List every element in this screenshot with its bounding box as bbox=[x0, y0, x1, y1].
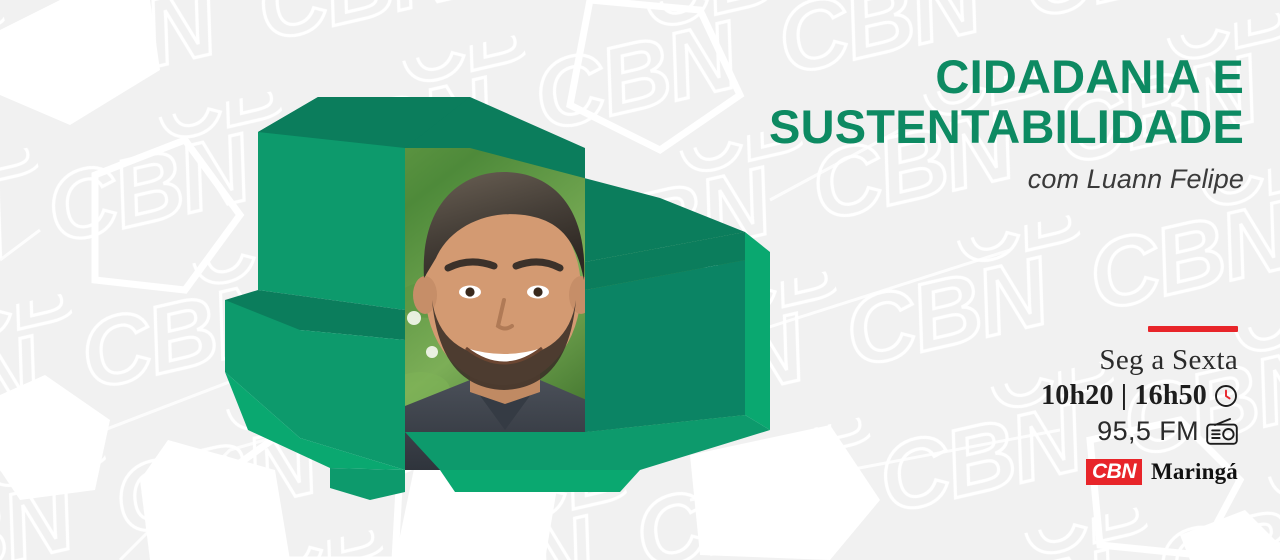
frequency-label: 95,5 FM bbox=[1097, 416, 1199, 447]
solid-polygon-lower-left bbox=[140, 440, 290, 560]
host-credit: com Luann Felipe bbox=[524, 164, 1244, 195]
clock-icon bbox=[1214, 384, 1238, 408]
frequency-row: 95,5 FM bbox=[1008, 416, 1238, 447]
red-divider bbox=[1148, 326, 1238, 332]
program-title-block: CIDADANIA E SUSTENTABILIDADE com Luann F… bbox=[524, 52, 1244, 195]
outline-polygon-left bbox=[95, 140, 240, 290]
schedule-info-block: Seg a Sexta 10h20 | 16h50 95,5 FM bbox=[1008, 326, 1238, 485]
program-title-line-1: CIDADANIA E bbox=[524, 52, 1244, 102]
station-city-label: Maringá bbox=[1151, 459, 1238, 485]
solid-polygon-lower-right bbox=[690, 425, 880, 560]
schedule-times: 10h20 | 16h50 bbox=[1041, 380, 1207, 412]
cbn-network-mark: CBN bbox=[1086, 459, 1142, 485]
program-title-line-2: SUSTENTABILIDADE bbox=[524, 102, 1244, 152]
schedule-times-row: 10h20 | 16h50 bbox=[1008, 380, 1238, 412]
radio-icon bbox=[1206, 418, 1238, 445]
schedule-days: Seg a Sexta bbox=[1008, 344, 1238, 376]
solid-polygon-corner-right bbox=[1180, 510, 1280, 560]
solid-polygon-lower-center bbox=[395, 440, 560, 560]
radio-program-banner: CBN CBN bbox=[0, 0, 1280, 560]
solid-polygon-top-left bbox=[0, 0, 160, 125]
accent-line-6 bbox=[0, 230, 40, 260]
station-logo: CBN Maringá bbox=[1008, 459, 1238, 485]
solid-polygon-left bbox=[0, 375, 110, 500]
accent-line-4 bbox=[760, 250, 1010, 330]
